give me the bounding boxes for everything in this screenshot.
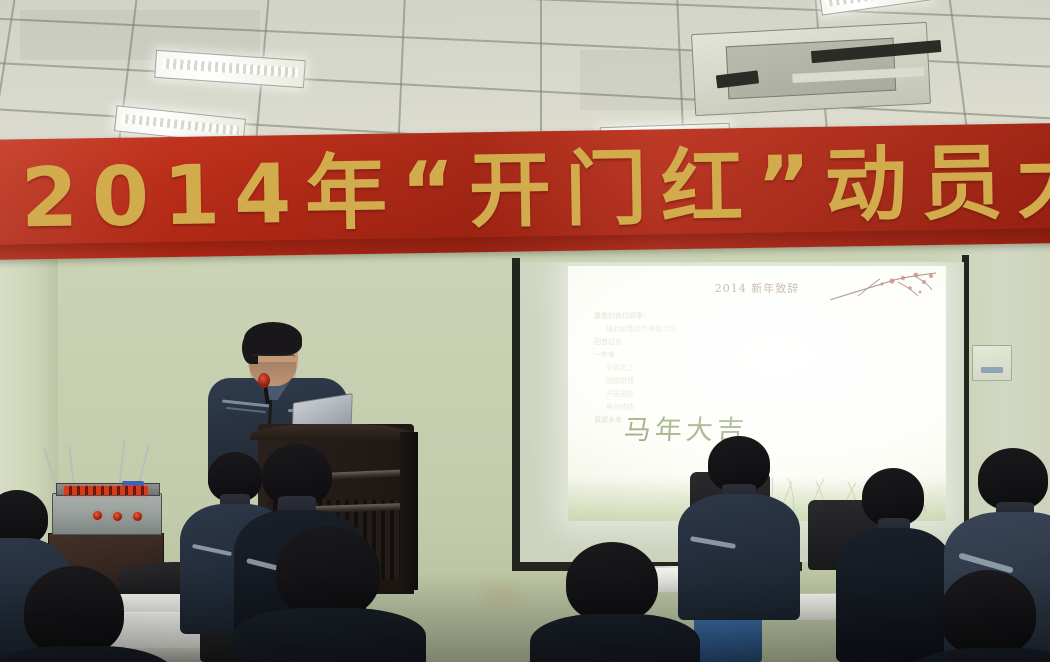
wall-outlet-plate (972, 345, 1012, 381)
presenter-face-shadow (250, 362, 296, 386)
plum-blossom-branch-icon (828, 270, 938, 314)
glasses-icon (251, 354, 295, 363)
receiver-indicator-light (113, 512, 122, 521)
torso (530, 614, 700, 662)
podium-side-panel (400, 432, 418, 590)
slide-line: 一年来 (594, 349, 774, 362)
slide-line: 开拓进取 (594, 388, 774, 401)
podium-top-panel (250, 424, 416, 440)
wall-stain (470, 575, 540, 623)
screen-frame-left (512, 258, 520, 570)
conference-room-photo: 2014年“开门红”动员大 2014 新年致辞 尊敬的各位同事： 值此新春佳节来… (0, 0, 1050, 662)
slide-line: 值此新春佳节来临之际 (594, 323, 774, 336)
slide-line: 团结拼搏 (594, 375, 774, 388)
head (24, 566, 124, 656)
microphone-head (258, 373, 270, 388)
receiver-indicator-light (93, 511, 102, 520)
air-conditioner-unit (691, 22, 931, 116)
slide-line: 尊敬的各位同事： (594, 310, 774, 323)
torso (836, 528, 952, 662)
wireless-receiver-unit (52, 493, 162, 535)
receiver-indicator-light (133, 512, 142, 521)
head (276, 526, 380, 618)
torso (232, 608, 426, 662)
receiver-led-strip (64, 486, 148, 495)
slide-line: 全体员工 (594, 362, 774, 375)
head (566, 542, 658, 622)
head (940, 570, 1036, 656)
slide-line: 回首过去 (594, 336, 774, 349)
head (978, 448, 1048, 510)
torso (678, 494, 800, 620)
